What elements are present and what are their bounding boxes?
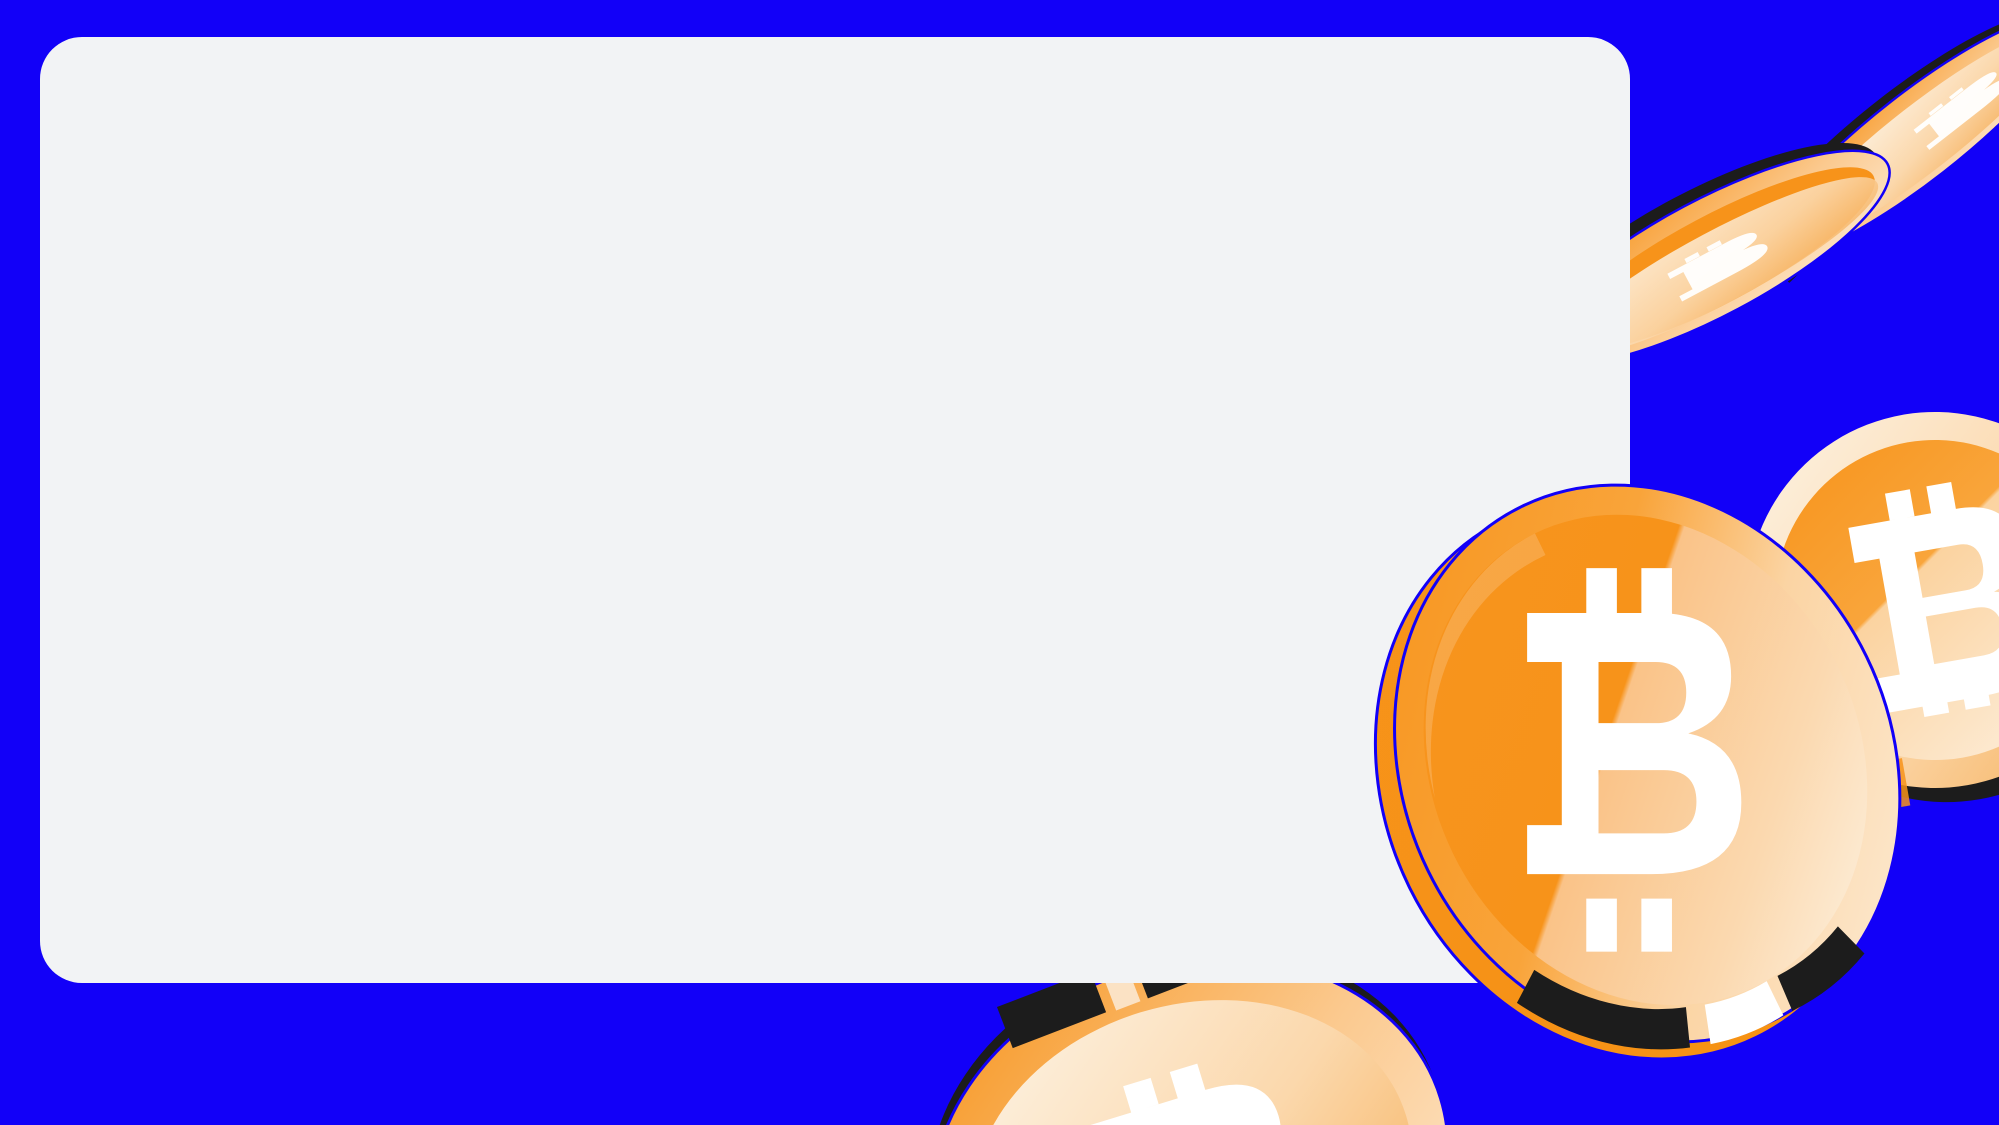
hero-bitcoin-coin [1330, 455, 1950, 1075]
bitcoin-coin-top-right [1728, 0, 1999, 294]
banner-root: Bitcoin Halving April 2024 What to Expec… [0, 0, 1999, 1125]
